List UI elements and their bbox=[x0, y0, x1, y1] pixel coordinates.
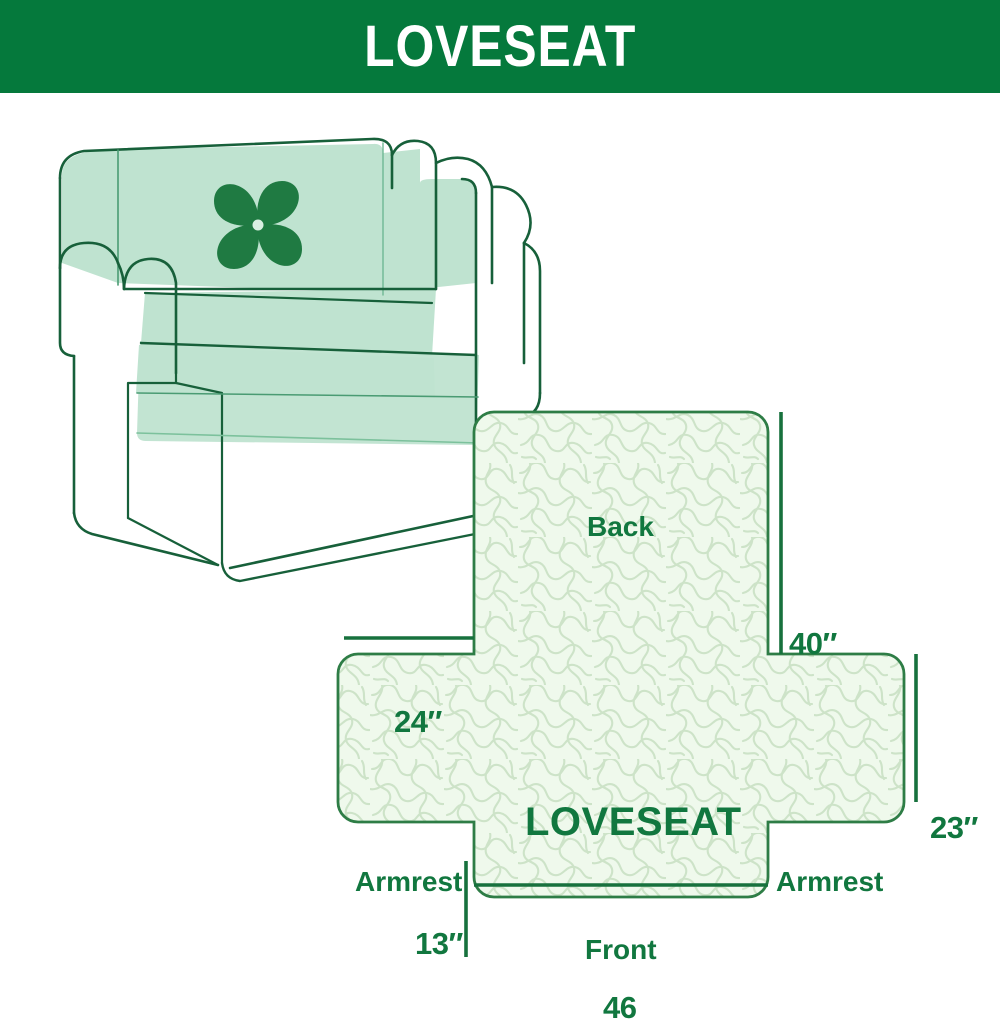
loveseat-sofa-illustration bbox=[60, 139, 540, 581]
diagram-canvas bbox=[0, 93, 1000, 1000]
dimension-label-overall-width: 46 bbox=[603, 992, 636, 1023]
cover-label-back: Back bbox=[587, 513, 654, 541]
dimension-label-front-height: 13″ bbox=[415, 928, 463, 959]
cover-label-armrest-right: Armrest bbox=[776, 868, 883, 896]
page-title: LOVESEAT bbox=[364, 18, 636, 76]
loveseat-cover-flat-layout bbox=[300, 393, 1000, 1000]
dimension-label-armrest-depth: 23″ bbox=[930, 812, 978, 843]
cover-label-center: LOVESEAT bbox=[525, 802, 742, 842]
dimension-label-back-height: 40″ bbox=[789, 628, 837, 659]
header-banner: LOVESEAT bbox=[0, 0, 1000, 93]
dimension-label-back-width: 24″ bbox=[394, 706, 442, 737]
cover-label-front: Front bbox=[585, 936, 657, 964]
diagram-stage: Back Front Armrest Armrest LOVESEAT 40″ … bbox=[0, 93, 1000, 1000]
cover-label-armrest-left: Armrest bbox=[355, 868, 462, 896]
